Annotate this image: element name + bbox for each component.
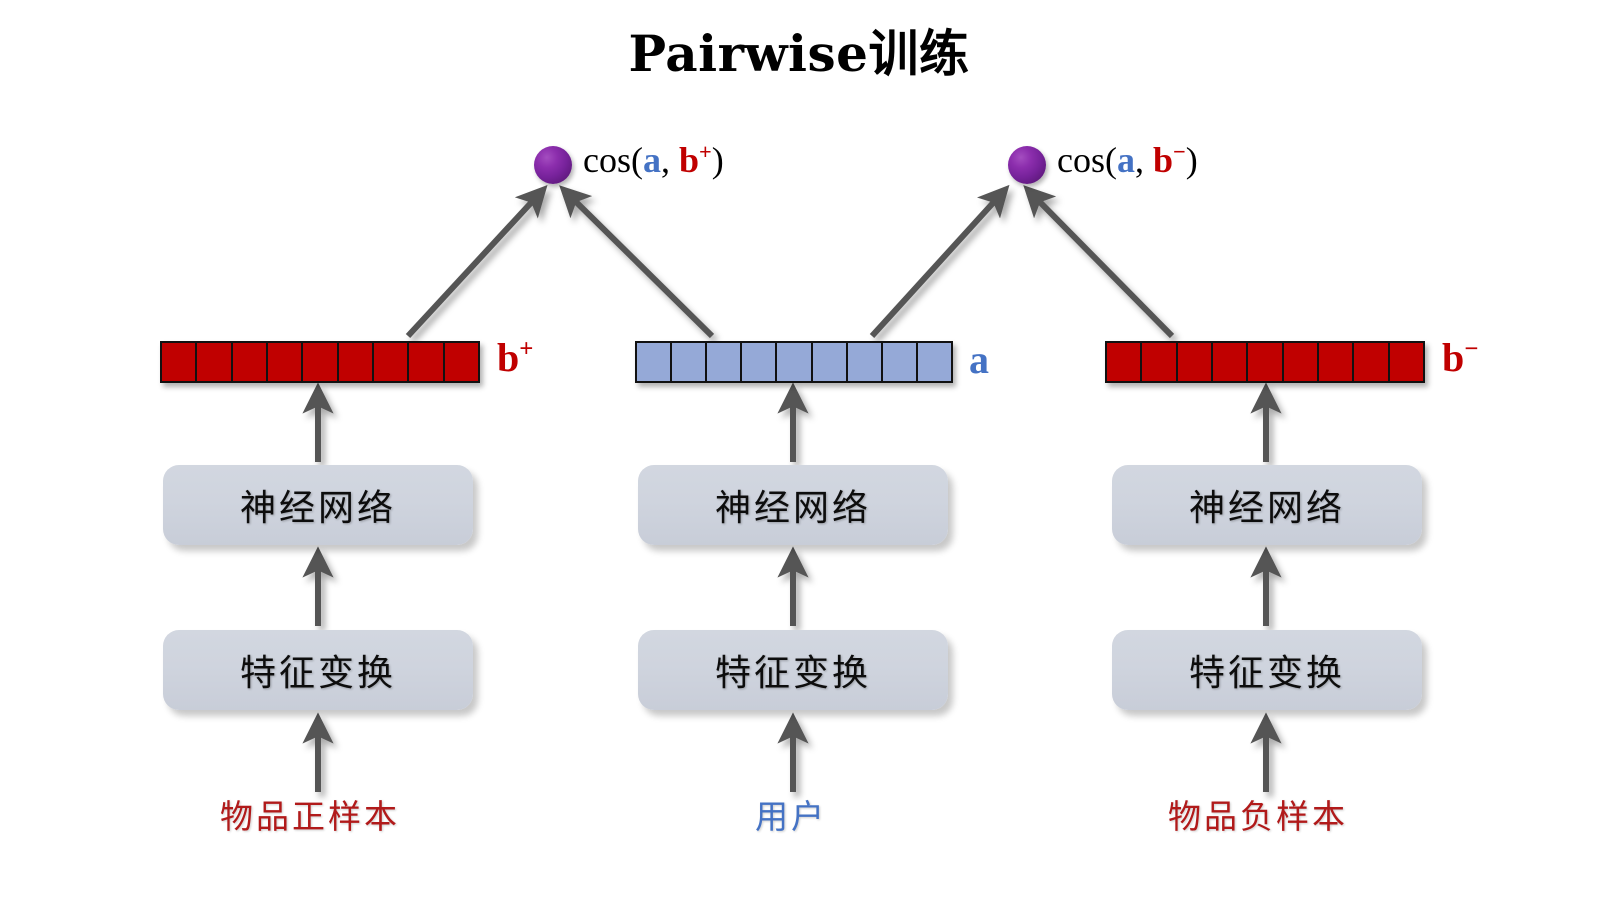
cos-prefix-positive: cos( [583, 140, 643, 180]
vector-cell [918, 343, 951, 381]
source-label-user: 用户 [755, 800, 827, 833]
vector-a-ref-positive: a [643, 140, 661, 180]
vector-cell [233, 343, 268, 381]
vector-label-b-negative: b− [1442, 338, 1478, 378]
feature-transform-label: 特征变换 [715, 644, 871, 696]
vector-cell [742, 343, 777, 381]
vector-cell [1319, 343, 1354, 381]
vector-b-sup-positive: + [699, 139, 712, 164]
vector-cell [672, 343, 707, 381]
vector-cell [1107, 343, 1142, 381]
neural-network-box-1[interactable]: 神经网络 [163, 465, 473, 545]
vector-label-b-positive: b+ [497, 338, 533, 378]
cos-suffix-negative: ) [1186, 140, 1198, 180]
arrow-a-to-cos-positive [566, 192, 712, 336]
neural-network-box-3[interactable]: 神经网络 [1112, 465, 1422, 545]
neural-network-box-2[interactable]: 神经网络 [638, 465, 948, 545]
neural-network-label: 神经网络 [240, 479, 396, 531]
cos-suffix-positive: ) [712, 140, 724, 180]
vector-cell [197, 343, 232, 381]
vector-b-sup-negative: − [1173, 139, 1186, 164]
cos-node-negative[interactable] [1008, 146, 1046, 184]
cos-sep-positive: , [661, 140, 679, 180]
feature-transform-label: 特征变换 [1189, 644, 1345, 696]
vector-cell [268, 343, 303, 381]
neural-network-label: 神经网络 [715, 479, 871, 531]
vector-cell [1354, 343, 1389, 381]
vector-label-a: a [969, 340, 989, 380]
vector-label-base: b [497, 335, 519, 380]
cos-sep-negative: , [1135, 140, 1153, 180]
vector-cell [445, 343, 478, 381]
cos-prefix-negative: cos( [1057, 140, 1117, 180]
vector-cell [813, 343, 848, 381]
vector-cell [637, 343, 672, 381]
vector-cell [303, 343, 338, 381]
vector-b-negative[interactable] [1105, 341, 1425, 383]
cos-node-positive[interactable] [534, 146, 572, 184]
vector-cell [409, 343, 444, 381]
feature-transform-box-2[interactable]: 特征变换 [638, 630, 948, 710]
vector-label-base: b [1442, 335, 1464, 380]
feature-transform-box-1[interactable]: 特征变换 [163, 630, 473, 710]
vector-cell [1178, 343, 1213, 381]
feature-transform-label: 特征变换 [240, 644, 396, 696]
vector-label-base: a [969, 337, 989, 382]
source-label-item-negative: 物品负样本 [1168, 800, 1348, 833]
vector-cell [883, 343, 918, 381]
vector-b-ref-negative: b [1153, 140, 1173, 180]
vector-cell [1284, 343, 1319, 381]
vector-cell [707, 343, 742, 381]
vector-b-ref-positive: b [679, 140, 699, 180]
page-title: Pairwise训练 [0, 14, 1598, 86]
cos-label-positive: cos(a, b+) [583, 142, 724, 178]
cos-label-negative: cos(a, b−) [1057, 142, 1198, 178]
vector-cell [1390, 343, 1423, 381]
vector-cell [1142, 343, 1177, 381]
vector-cell [339, 343, 374, 381]
source-label-item-positive: 物品正样本 [220, 800, 400, 833]
vector-label-sup: − [1464, 336, 1478, 363]
vector-label-sup: + [519, 336, 533, 363]
vector-cell [162, 343, 197, 381]
diagram-canvas: Pairwise训练 [0, 0, 1598, 898]
arrow-bminus-to-cos-negative [1030, 192, 1172, 336]
arrow-a-to-cos-negative [872, 192, 1003, 336]
feature-transform-box-3[interactable]: 特征变换 [1112, 630, 1422, 710]
arrow-layer [0, 0, 1598, 898]
vector-cell [1213, 343, 1248, 381]
arrow-bplus-to-cos-positive [408, 192, 541, 336]
vector-cell [848, 343, 883, 381]
vector-b-positive[interactable] [160, 341, 480, 383]
vector-a-user[interactable] [635, 341, 953, 383]
vector-a-ref-negative: a [1117, 140, 1135, 180]
vector-cell [374, 343, 409, 381]
neural-network-label: 神经网络 [1189, 479, 1345, 531]
vector-cell [777, 343, 812, 381]
vector-cell [1248, 343, 1283, 381]
